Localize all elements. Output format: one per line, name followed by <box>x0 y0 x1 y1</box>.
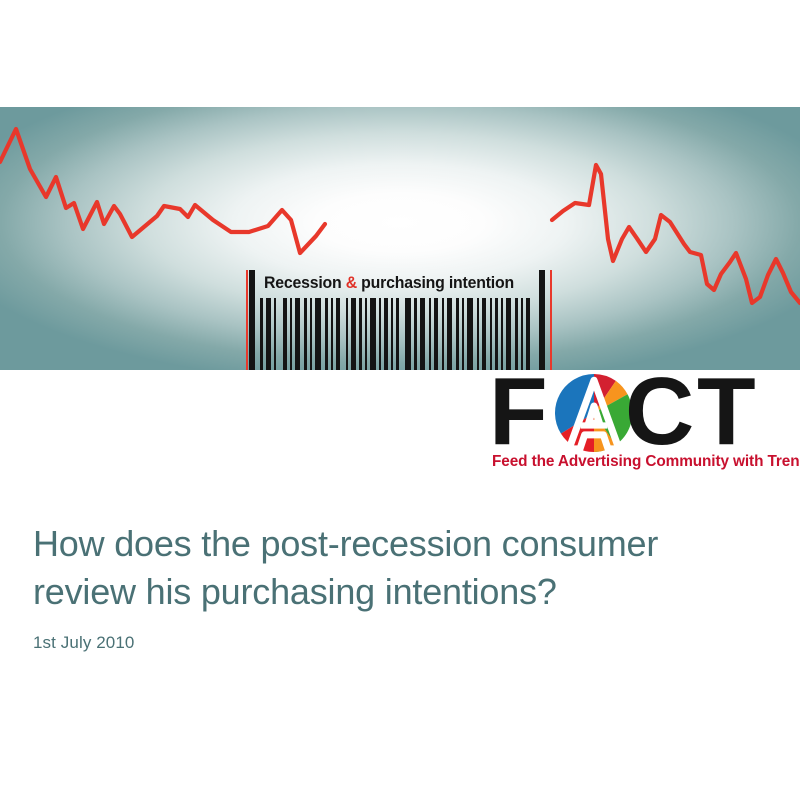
fact-logo: F C T Feed the Advertising Community wit… <box>489 370 789 478</box>
barcode-caption-row: Recession & purchasing intention <box>246 270 558 296</box>
barcode-graphic: Recession & purchasing intention <box>246 270 558 370</box>
barcode-bar <box>447 298 452 370</box>
barcode-bar <box>477 298 479 370</box>
barcode-bar <box>331 298 333 370</box>
barcode-bar <box>405 298 411 370</box>
logo-tagline: Feed the Advertising Community with Tren… <box>492 453 800 471</box>
logo-letter-c: C <box>625 370 692 454</box>
barcode-bar <box>442 298 444 370</box>
barcode-bar <box>295 298 300 370</box>
barcode-bar <box>420 298 425 370</box>
logo-letter-t: T <box>697 370 754 454</box>
barcode-bar <box>384 298 388 370</box>
barcode-caption-part-2: purchasing intention <box>357 274 514 292</box>
barcode-bar <box>467 298 473 370</box>
barcode-bar <box>310 298 312 370</box>
barcode-bar <box>304 298 307 370</box>
barcode-bar <box>336 298 340 370</box>
barcode-bar <box>283 298 287 370</box>
barcode-bar <box>359 298 362 370</box>
barcode-bar <box>456 298 459 370</box>
barcode-bar <box>346 298 348 370</box>
barcode-bar <box>462 298 464 370</box>
barcode-caption-ampersand: & <box>346 274 357 292</box>
barcode-bar <box>365 298 367 370</box>
barcode-caption: Recession & purchasing intention <box>264 270 514 296</box>
barcode-bar <box>370 298 376 370</box>
barcode-bar <box>315 298 321 370</box>
barcode-bar <box>274 298 276 370</box>
pie-chart-letter-a-icon <box>555 374 633 452</box>
page-title: How does the post-recession consumer rev… <box>33 520 763 616</box>
fact-wordmark: F C T <box>489 370 789 454</box>
barcode-bar <box>249 298 255 370</box>
barcode-bar <box>482 298 486 370</box>
barcode-bar <box>379 298 381 370</box>
barcode-bar <box>391 298 393 370</box>
barcode-bar <box>260 298 263 370</box>
logo-letter-f: F <box>489 370 546 454</box>
barcode-bar <box>396 298 399 370</box>
barcode-bar <box>414 298 417 370</box>
barcode-caption-part-1: Recession <box>264 274 346 292</box>
barcode-bar <box>434 298 438 370</box>
barcode-bar <box>325 298 328 370</box>
page-date: 1st July 2010 <box>33 633 763 653</box>
barcode-bar <box>351 298 356 370</box>
hero-banner: Recession & purchasing intention <box>0 107 800 370</box>
barcode-bar <box>266 298 271 370</box>
barcode-bar <box>429 298 431 370</box>
barcode-bar <box>290 298 292 370</box>
title-block: How does the post-recession consumer rev… <box>33 520 763 653</box>
